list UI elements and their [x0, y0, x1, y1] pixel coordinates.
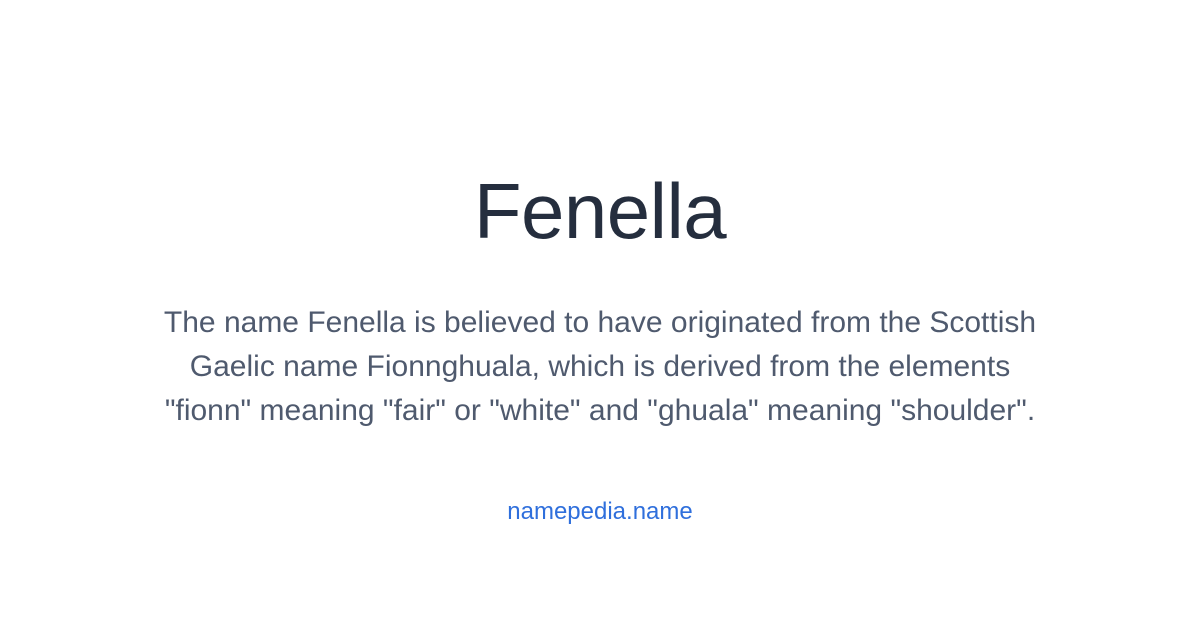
- name-meaning-card: Fenella The name Fenella is believed to …: [0, 0, 1200, 630]
- source-site-link[interactable]: namepedia.name: [507, 497, 692, 527]
- page-title: Fenella: [474, 166, 726, 256]
- name-meaning-description: The name Fenella is believed to have ori…: [150, 301, 1050, 433]
